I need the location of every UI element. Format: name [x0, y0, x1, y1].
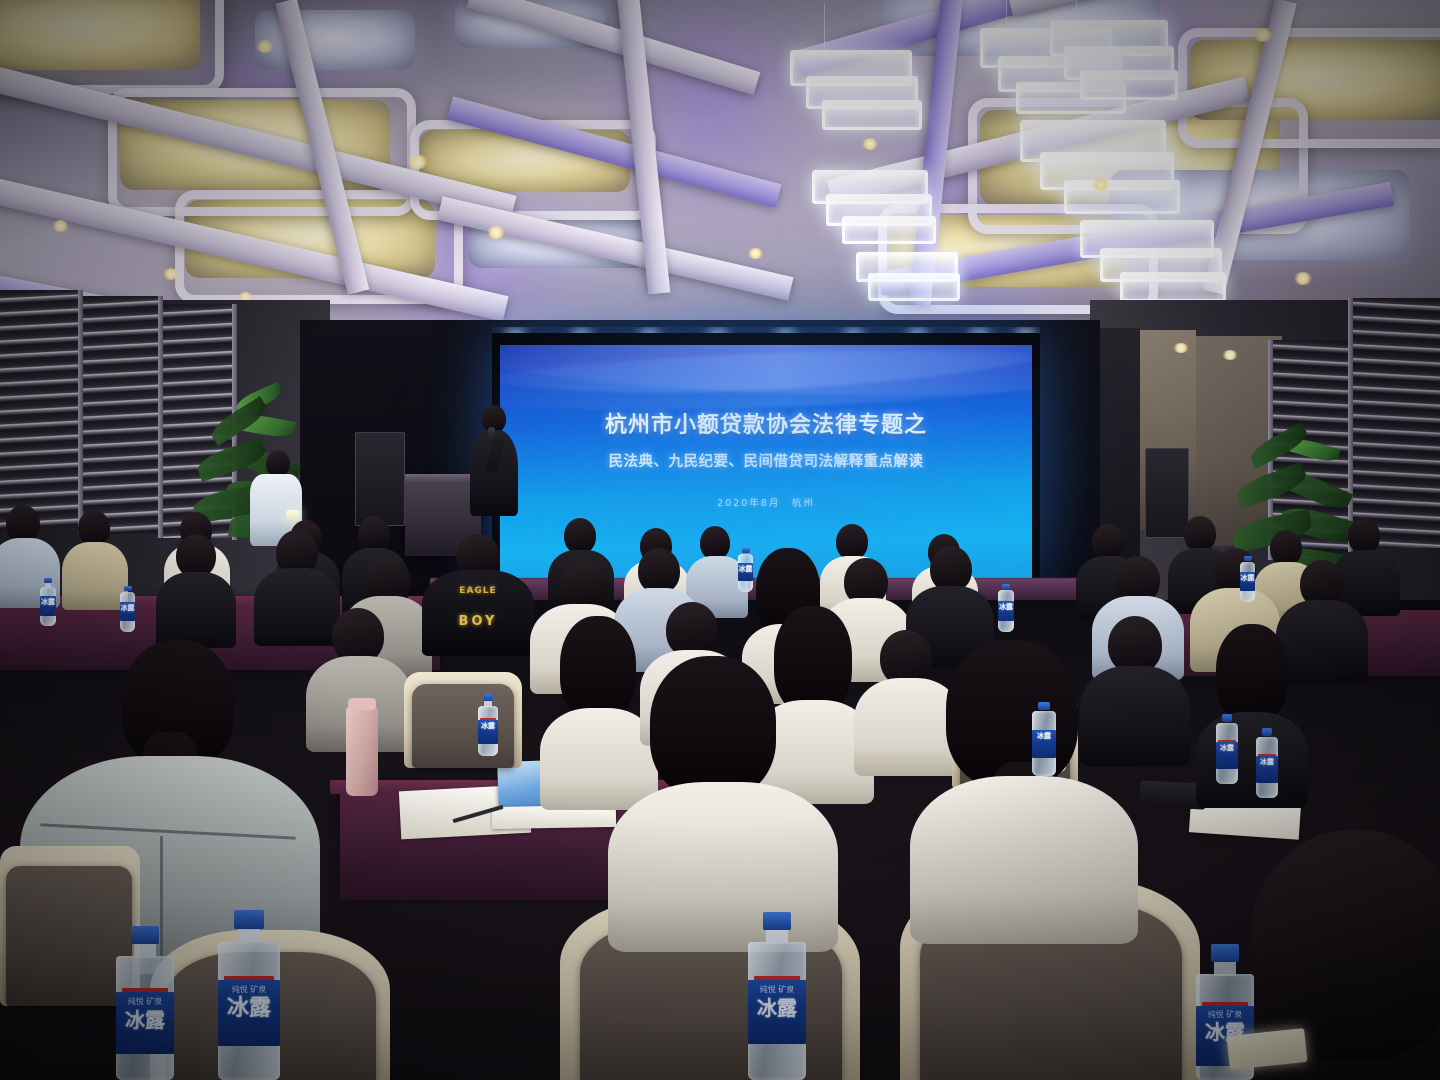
attendee-torso	[156, 572, 236, 648]
attendee-head	[1270, 530, 1302, 566]
recessed-downlight	[1294, 272, 1312, 285]
bottle-label: 纯悦 矿泉 冰露	[218, 980, 280, 1046]
water-bottle[interactable]: 冰露	[1032, 702, 1056, 776]
bottle-label: 冰露	[1240, 572, 1255, 591]
blind-rail	[78, 290, 83, 534]
bottle-label: 冰露	[120, 602, 135, 621]
bottle-label: 纯悦 矿泉 冰露	[748, 980, 806, 1044]
attendee-hair	[650, 656, 776, 798]
thermos-cap	[348, 698, 376, 710]
loudspeaker-left	[355, 432, 405, 526]
recessed-downlight	[52, 220, 69, 232]
recessed-downlight	[408, 155, 428, 169]
chair[interactable]	[6, 866, 132, 1006]
attendee-white-top	[892, 640, 1152, 940]
attendee-head	[1250, 830, 1440, 1060]
ceiling	[0, 0, 1440, 330]
water-bottle[interactable]: 纯悦 矿泉 冰露	[748, 912, 806, 1080]
slide-subtitle: 民法典、九民纪要、民间借贷司法解释重点解读	[500, 450, 1032, 471]
loudspeaker-right	[1145, 448, 1189, 538]
attendee-hair	[1216, 624, 1288, 722]
bottle-cap	[742, 548, 750, 553]
bottle-cap	[1002, 584, 1010, 589]
recessed-downlight	[1173, 343, 1189, 353]
recessed-downlight	[487, 226, 505, 239]
recessed-downlight	[163, 268, 179, 280]
pendant-wire	[824, 4, 825, 52]
attendee-head	[564, 518, 596, 554]
water-bottle[interactable]: 冰露	[738, 548, 753, 592]
water-bottle[interactable]: 冰露	[40, 578, 56, 626]
microphone	[488, 427, 495, 443]
chair[interactable]	[412, 684, 514, 768]
pink-thermos-bottle[interactable]	[346, 706, 378, 796]
bottle-cap	[234, 910, 264, 929]
slide-date-location: 2020年8月 杭州	[500, 495, 1032, 509]
water-bottle[interactable]: 冰露	[478, 694, 498, 756]
recessed-downlight	[748, 248, 763, 259]
boy-london-jacket: EAGLE BOY	[422, 570, 534, 656]
pendant-bar	[1064, 180, 1180, 214]
pendant-bar	[868, 273, 960, 301]
blind-rail	[158, 296, 163, 538]
water-bottle[interactable]: 冰露	[120, 586, 135, 632]
attendee-head	[358, 516, 390, 552]
bottle-cap	[483, 694, 493, 701]
window-blinds-left[interactable]	[82, 296, 160, 534]
window-blinds-left[interactable]	[0, 290, 80, 530]
bottle-brand-sub: 纯悦 矿泉	[116, 998, 174, 1006]
attendee-head	[1184, 516, 1216, 552]
attendee-head	[78, 510, 110, 546]
attendee-head	[700, 526, 730, 560]
water-bottle[interactable]: 冰露	[1216, 714, 1238, 784]
recessed-downlight	[1092, 178, 1110, 191]
eagle-logo-icon: EAGLE	[422, 586, 534, 596]
bottle-label: 冰露	[998, 601, 1014, 621]
bottle-brand-sub: 纯悦 矿泉	[1196, 1011, 1254, 1019]
attendee-head	[1092, 524, 1124, 560]
bottle-cap	[1222, 714, 1232, 722]
bottle-label: 冰露	[40, 596, 56, 616]
attendee-torso	[910, 776, 1138, 944]
water-bottle[interactable]: 纯悦 矿泉 冰露	[116, 926, 174, 1080]
bottle-cap	[1244, 556, 1252, 561]
bottle-cap	[763, 912, 791, 930]
recessed-downlight	[1222, 350, 1238, 360]
bottle-label: 冰露	[1256, 756, 1278, 783]
bottle-brand-cn: 冰露	[748, 998, 806, 1018]
pendant-bar	[822, 100, 922, 130]
bottle-label: 冰露	[1032, 730, 1056, 758]
bottle-cap	[1038, 702, 1050, 710]
attendee-torso	[62, 542, 128, 610]
attendee-head	[1348, 518, 1380, 554]
bottle-brand-cn: 冰露	[116, 1010, 174, 1030]
conference-hall-photo: 杭州市小额贷款协会法律专题之 民法典、九民纪要、民间借贷司法解释重点解读 202…	[0, 0, 1440, 1080]
pendant-wire	[1060, 90, 1061, 122]
presenter	[466, 405, 522, 555]
bottle-label: 冰露	[478, 720, 498, 744]
water-bottle[interactable]: 冰露	[998, 584, 1014, 632]
bottle-cap	[131, 926, 159, 944]
attendee-torso	[254, 568, 340, 646]
bottle-brand-cn: 冰露	[218, 998, 280, 1020]
water-bottle[interactable]: 纯悦 矿泉 冰露	[218, 910, 280, 1080]
attendee-cream-top	[592, 656, 852, 946]
water-bottle[interactable]: 冰露	[1256, 728, 1278, 798]
pendant-bar	[1080, 70, 1178, 100]
attendee-head	[836, 524, 868, 560]
bottle-cap	[124, 586, 132, 591]
bottle-brand-sub: 纯悦 矿泉	[218, 986, 280, 994]
bottle-cap	[1262, 728, 1272, 736]
bottle-brand-sub: 纯悦 矿泉	[748, 986, 806, 994]
pendant-bar	[1120, 272, 1226, 302]
attendee-torso	[1196, 712, 1308, 808]
standing-attendee-head	[266, 450, 290, 477]
bottle-label: 纯悦 矿泉 冰露	[116, 992, 174, 1054]
attendee-boy-jacket: EAGLE BOY	[422, 534, 538, 656]
pendant-bar	[842, 216, 936, 244]
recessed-downlight	[256, 40, 274, 53]
attendee-torso	[1276, 600, 1368, 684]
bottle-label: 冰露	[1216, 742, 1238, 769]
water-bottle[interactable]: 冰露	[1240, 556, 1255, 602]
recessed-downlight	[1253, 28, 1273, 42]
bottle-cap	[1211, 944, 1239, 962]
recessed-downlight	[862, 138, 878, 150]
smartphone-screen[interactable]	[286, 510, 300, 520]
bottle-label: 冰露	[738, 563, 753, 581]
boy-logo-text: BOY	[422, 614, 534, 629]
slide-title: 杭州市小额贷款协会法律专题之	[500, 407, 1032, 439]
